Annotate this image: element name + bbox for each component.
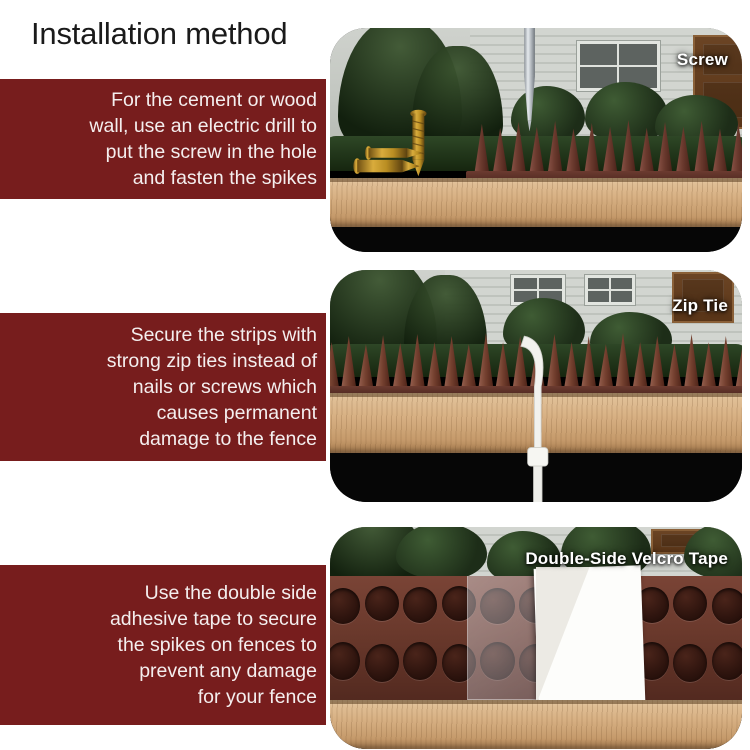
screw-icon <box>363 144 425 162</box>
caption-text: Use the double side adhesive tape to sec… <box>96 580 326 710</box>
infographic-page: Installation method <box>0 0 750 750</box>
photo-velcro-tape: Double-Side Velcro Tape <box>330 527 742 749</box>
caption-panel-zip-tie: Secure the strips with strong zip ties i… <box>0 313 326 461</box>
photo-label-screw: Screw <box>677 50 728 70</box>
section-screw: Screw For the cement or wood wall, use a… <box>0 28 750 252</box>
wooden-board <box>330 178 742 227</box>
caption-panel-velcro-tape: Use the double side adhesive tape to sec… <box>0 565 326 725</box>
house-window-icon <box>585 275 634 305</box>
wooden-board <box>330 700 742 749</box>
caption-text: Secure the strips with strong zip ties i… <box>93 322 326 452</box>
photo-screw: Screw <box>330 28 742 252</box>
photo-label-zip-tie: Zip Tie <box>672 296 728 316</box>
section-zip-tie: Zip Tie Secure the strips with strong zi… <box>0 270 750 502</box>
photo-zip-tie: Zip Tie <box>330 270 742 502</box>
shrub <box>396 527 487 580</box>
zip-tie-icon <box>511 321 565 502</box>
caption-panel-screw: For the cement or wood wall, use an elec… <box>0 79 326 199</box>
drill-bit-icon <box>511 28 548 131</box>
section-velcro-tape: Double-Side Velcro Tape Use the double s… <box>0 527 750 749</box>
caption-text: For the cement or wood wall, use an elec… <box>75 87 326 191</box>
photo-label-velcro-tape: Double-Side Velcro Tape <box>525 549 728 569</box>
